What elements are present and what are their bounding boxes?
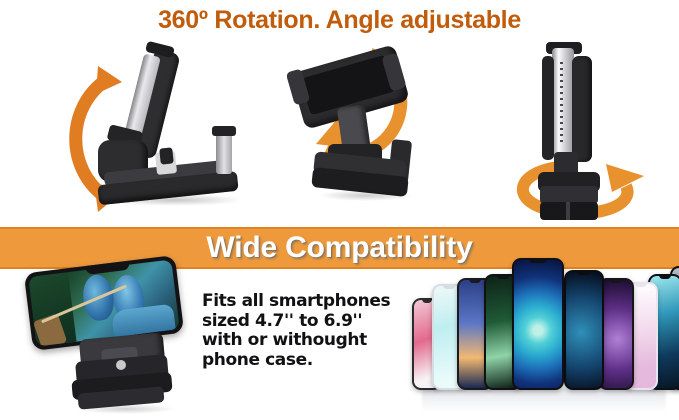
lineup-phone-screen [566, 272, 602, 388]
lineup-phone-notch [659, 274, 671, 279]
lineup-phone-notch [610, 278, 622, 283]
product-shadow [76, 404, 176, 414]
product-marketing-image: 360º Rotation. Angle adjustable [0, 0, 679, 420]
clamp-shadow [318, 190, 414, 201]
lineup-phone-screen [514, 260, 562, 388]
holder-arm-right [572, 56, 592, 162]
lineup-phone [564, 270, 604, 390]
body-copy-line: with or withought [202, 331, 402, 351]
page-title: 360º Rotation. Angle adjustable [0, 6, 679, 35]
phone-edge-detail [560, 62, 563, 144]
phone-edge-profile [552, 48, 574, 158]
product-panel-folded-stand [60, 42, 250, 222]
stand-rear-post [216, 130, 232, 174]
stand-clip-inner [159, 147, 174, 164]
compatible-phones-lineup [412, 272, 674, 412]
lineup-phone [512, 258, 564, 390]
stand-shadow [104, 194, 244, 206]
lineup-phone-notch [443, 284, 455, 289]
body-copy-line: Fits all smartphones [202, 292, 402, 312]
lineup-phone-notch [529, 258, 547, 263]
stand-rear-post-cap [212, 126, 236, 136]
lineup-phone-screen [600, 280, 632, 388]
stand-pivot-pin [116, 360, 126, 370]
body-copy-line: sized 4.7'' to 6.9'' [202, 312, 402, 332]
lineup-reflection [422, 388, 666, 412]
holder-base-slot [566, 202, 570, 220]
holder-arm-left [542, 56, 554, 160]
body-copy: Fits all smartphones sized 4.7'' to 6.9'… [202, 292, 402, 371]
lineup-phone-notch [469, 278, 481, 283]
body-copy-line: phone case. [202, 351, 402, 371]
product-panel-vertical-holder [498, 40, 658, 226]
product-panel-clamp-rotating [282, 44, 452, 224]
product-photo-phone-in-stand [28, 262, 208, 420]
lineup-phone-notch [577, 270, 591, 275]
lineup-phone-notch [635, 282, 647, 287]
lineup-phone-notch [497, 274, 510, 279]
